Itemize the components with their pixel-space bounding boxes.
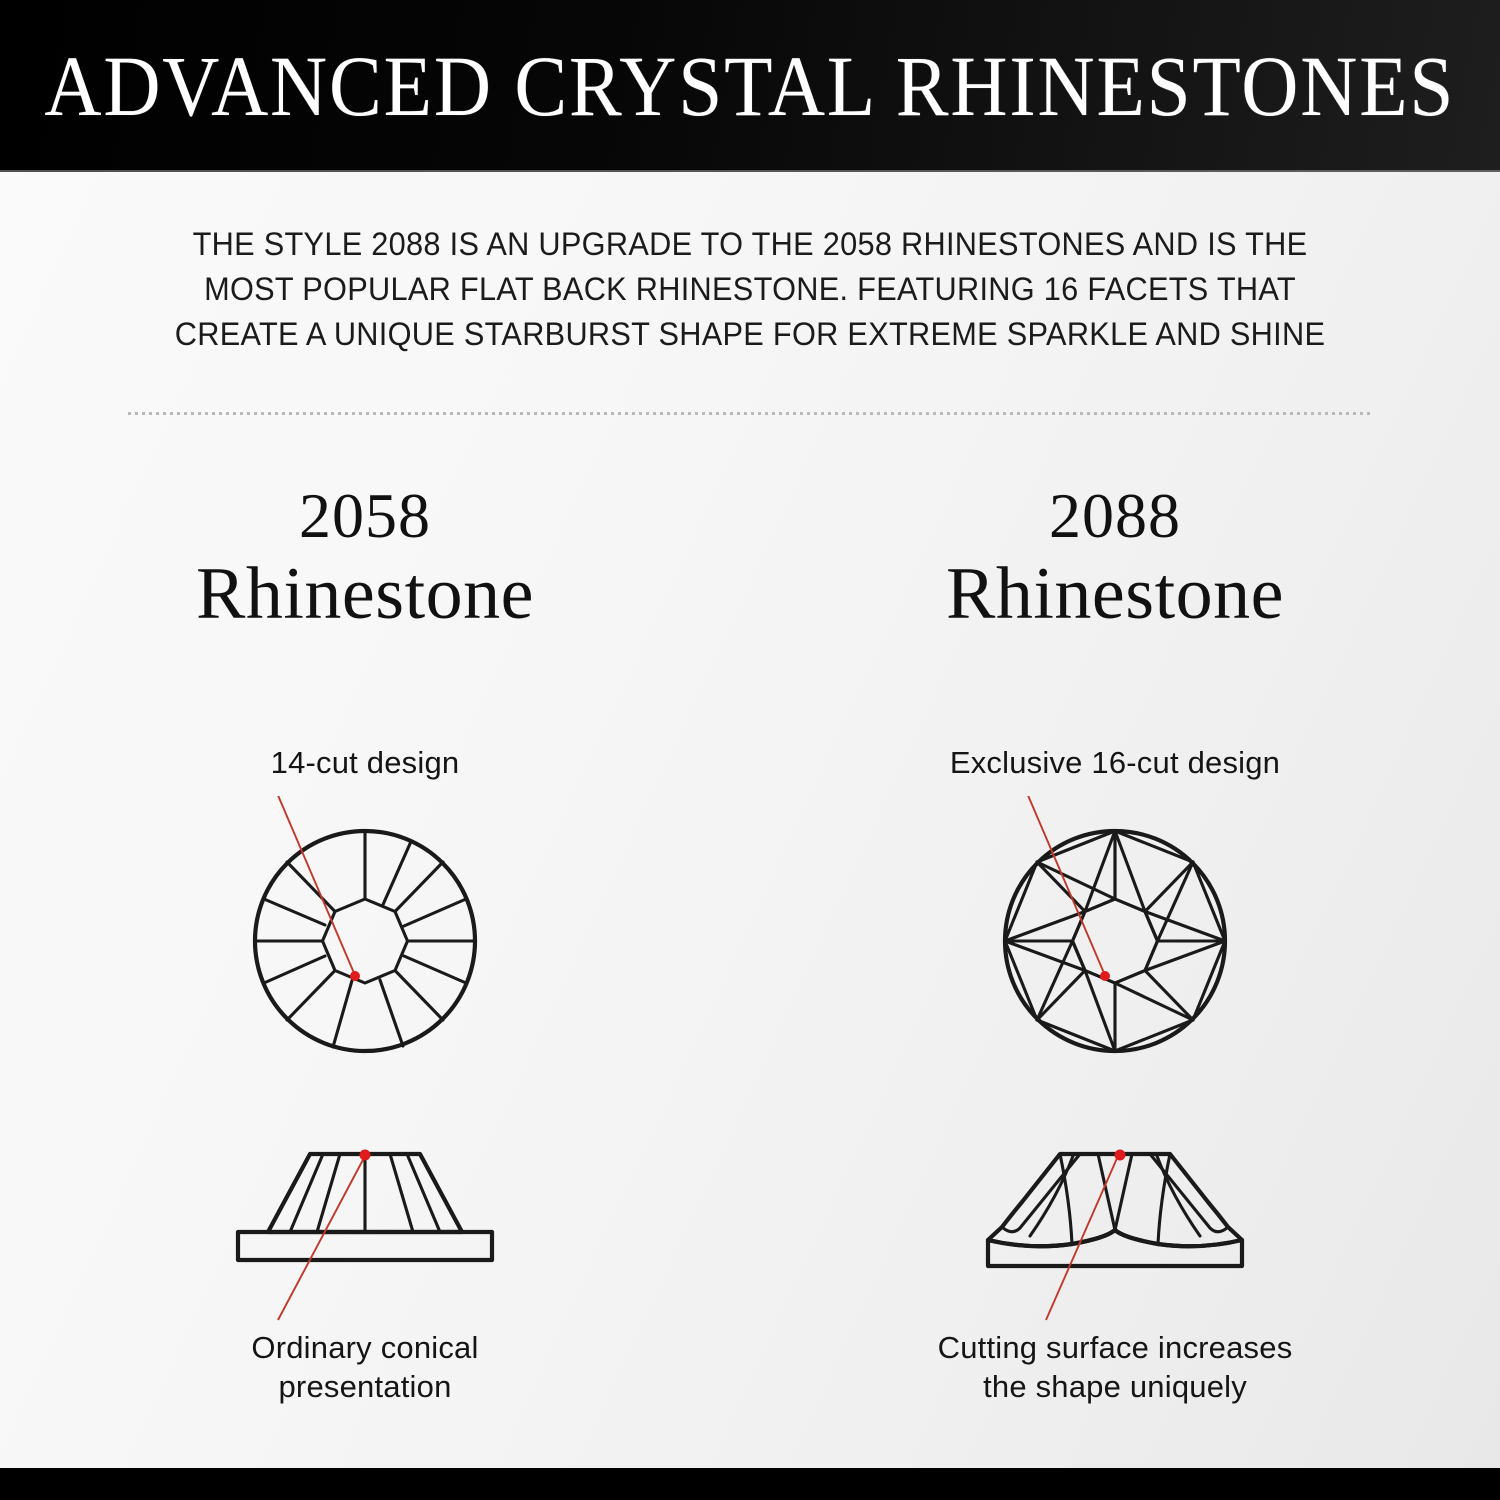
footer-bar: [0, 1468, 1500, 1500]
side-view-2058-svg-wrap: [20, 1132, 710, 1322]
label-14-cut-design: 14-cut design: [20, 744, 710, 782]
figure-2058-side-view: Ordinary conical presentation: [20, 1132, 710, 1406]
intro-line-3: CREATE A UNIQUE STARBURST SHAPE FOR EXTR…: [136, 312, 1365, 357]
side-view-2088-svg-wrap: [770, 1132, 1460, 1322]
heading-2058-word: Rhinestone: [20, 552, 710, 636]
column-2058: 2058 Rhinestone 14-cut design: [20, 480, 710, 1406]
heading-2088: 2088 Rhinestone: [770, 480, 1460, 636]
figure-2088-top-view: Exclusive 16-cut design: [770, 744, 1460, 1056]
caption-2058-line-2: presentation: [278, 1369, 451, 1404]
rhinestone-2058-profile-icon: [200, 1132, 530, 1322]
heading-2088-word: Rhinestone: [770, 552, 1460, 636]
intro-line-1: THE STYLE 2088 IS AN UPGRADE TO THE 2058…: [136, 222, 1365, 267]
figure-2058-top-view: 14-cut design: [20, 744, 710, 1056]
caption-2088-line-2: the shape uniquely: [983, 1369, 1247, 1404]
top-view-2088-svg-wrap: [770, 796, 1460, 1056]
heading-2058-number: 2058: [20, 480, 710, 552]
label-exclusive-16-cut-design: Exclusive 16-cut design: [770, 744, 1460, 782]
rhinestone-2088-profile-icon: [950, 1132, 1280, 1322]
rhinestone-2088-top-icon: [975, 796, 1255, 1056]
intro-line-2: MOST POPULAR FLAT BACK RHINESTONE. FEATU…: [136, 267, 1365, 312]
heading-2088-number: 2088: [770, 480, 1460, 552]
dotted-divider: [128, 412, 1373, 415]
column-2088: 2088 Rhinestone Exclusive 16-cut design: [770, 480, 1460, 1406]
page-title: ADVANCED CRYSTAL RHINESTONES: [45, 43, 1456, 129]
caption-2058-line-1: Ordinary conical: [251, 1330, 478, 1365]
rhinestone-2058-top-icon: [225, 796, 505, 1056]
header-bar: ADVANCED CRYSTAL RHINESTONES: [0, 0, 1500, 172]
heading-2058: 2058 Rhinestone: [20, 480, 710, 636]
intro-paragraph: THE STYLE 2088 IS AN UPGRADE TO THE 2058…: [136, 222, 1365, 357]
caption-2088-line-1: Cutting surface increases: [938, 1330, 1293, 1365]
figure-2088-side-view: Cutting surface increases the shape uniq…: [770, 1132, 1460, 1406]
infographic-page: ADVANCED CRYSTAL RHINESTONES THE STYLE 2…: [0, 0, 1500, 1500]
top-view-2058-svg-wrap: [20, 796, 710, 1056]
caption-2058-side-view: Ordinary conical presentation: [20, 1328, 710, 1406]
caption-2088-side-view: Cutting surface increases the shape uniq…: [770, 1328, 1460, 1406]
